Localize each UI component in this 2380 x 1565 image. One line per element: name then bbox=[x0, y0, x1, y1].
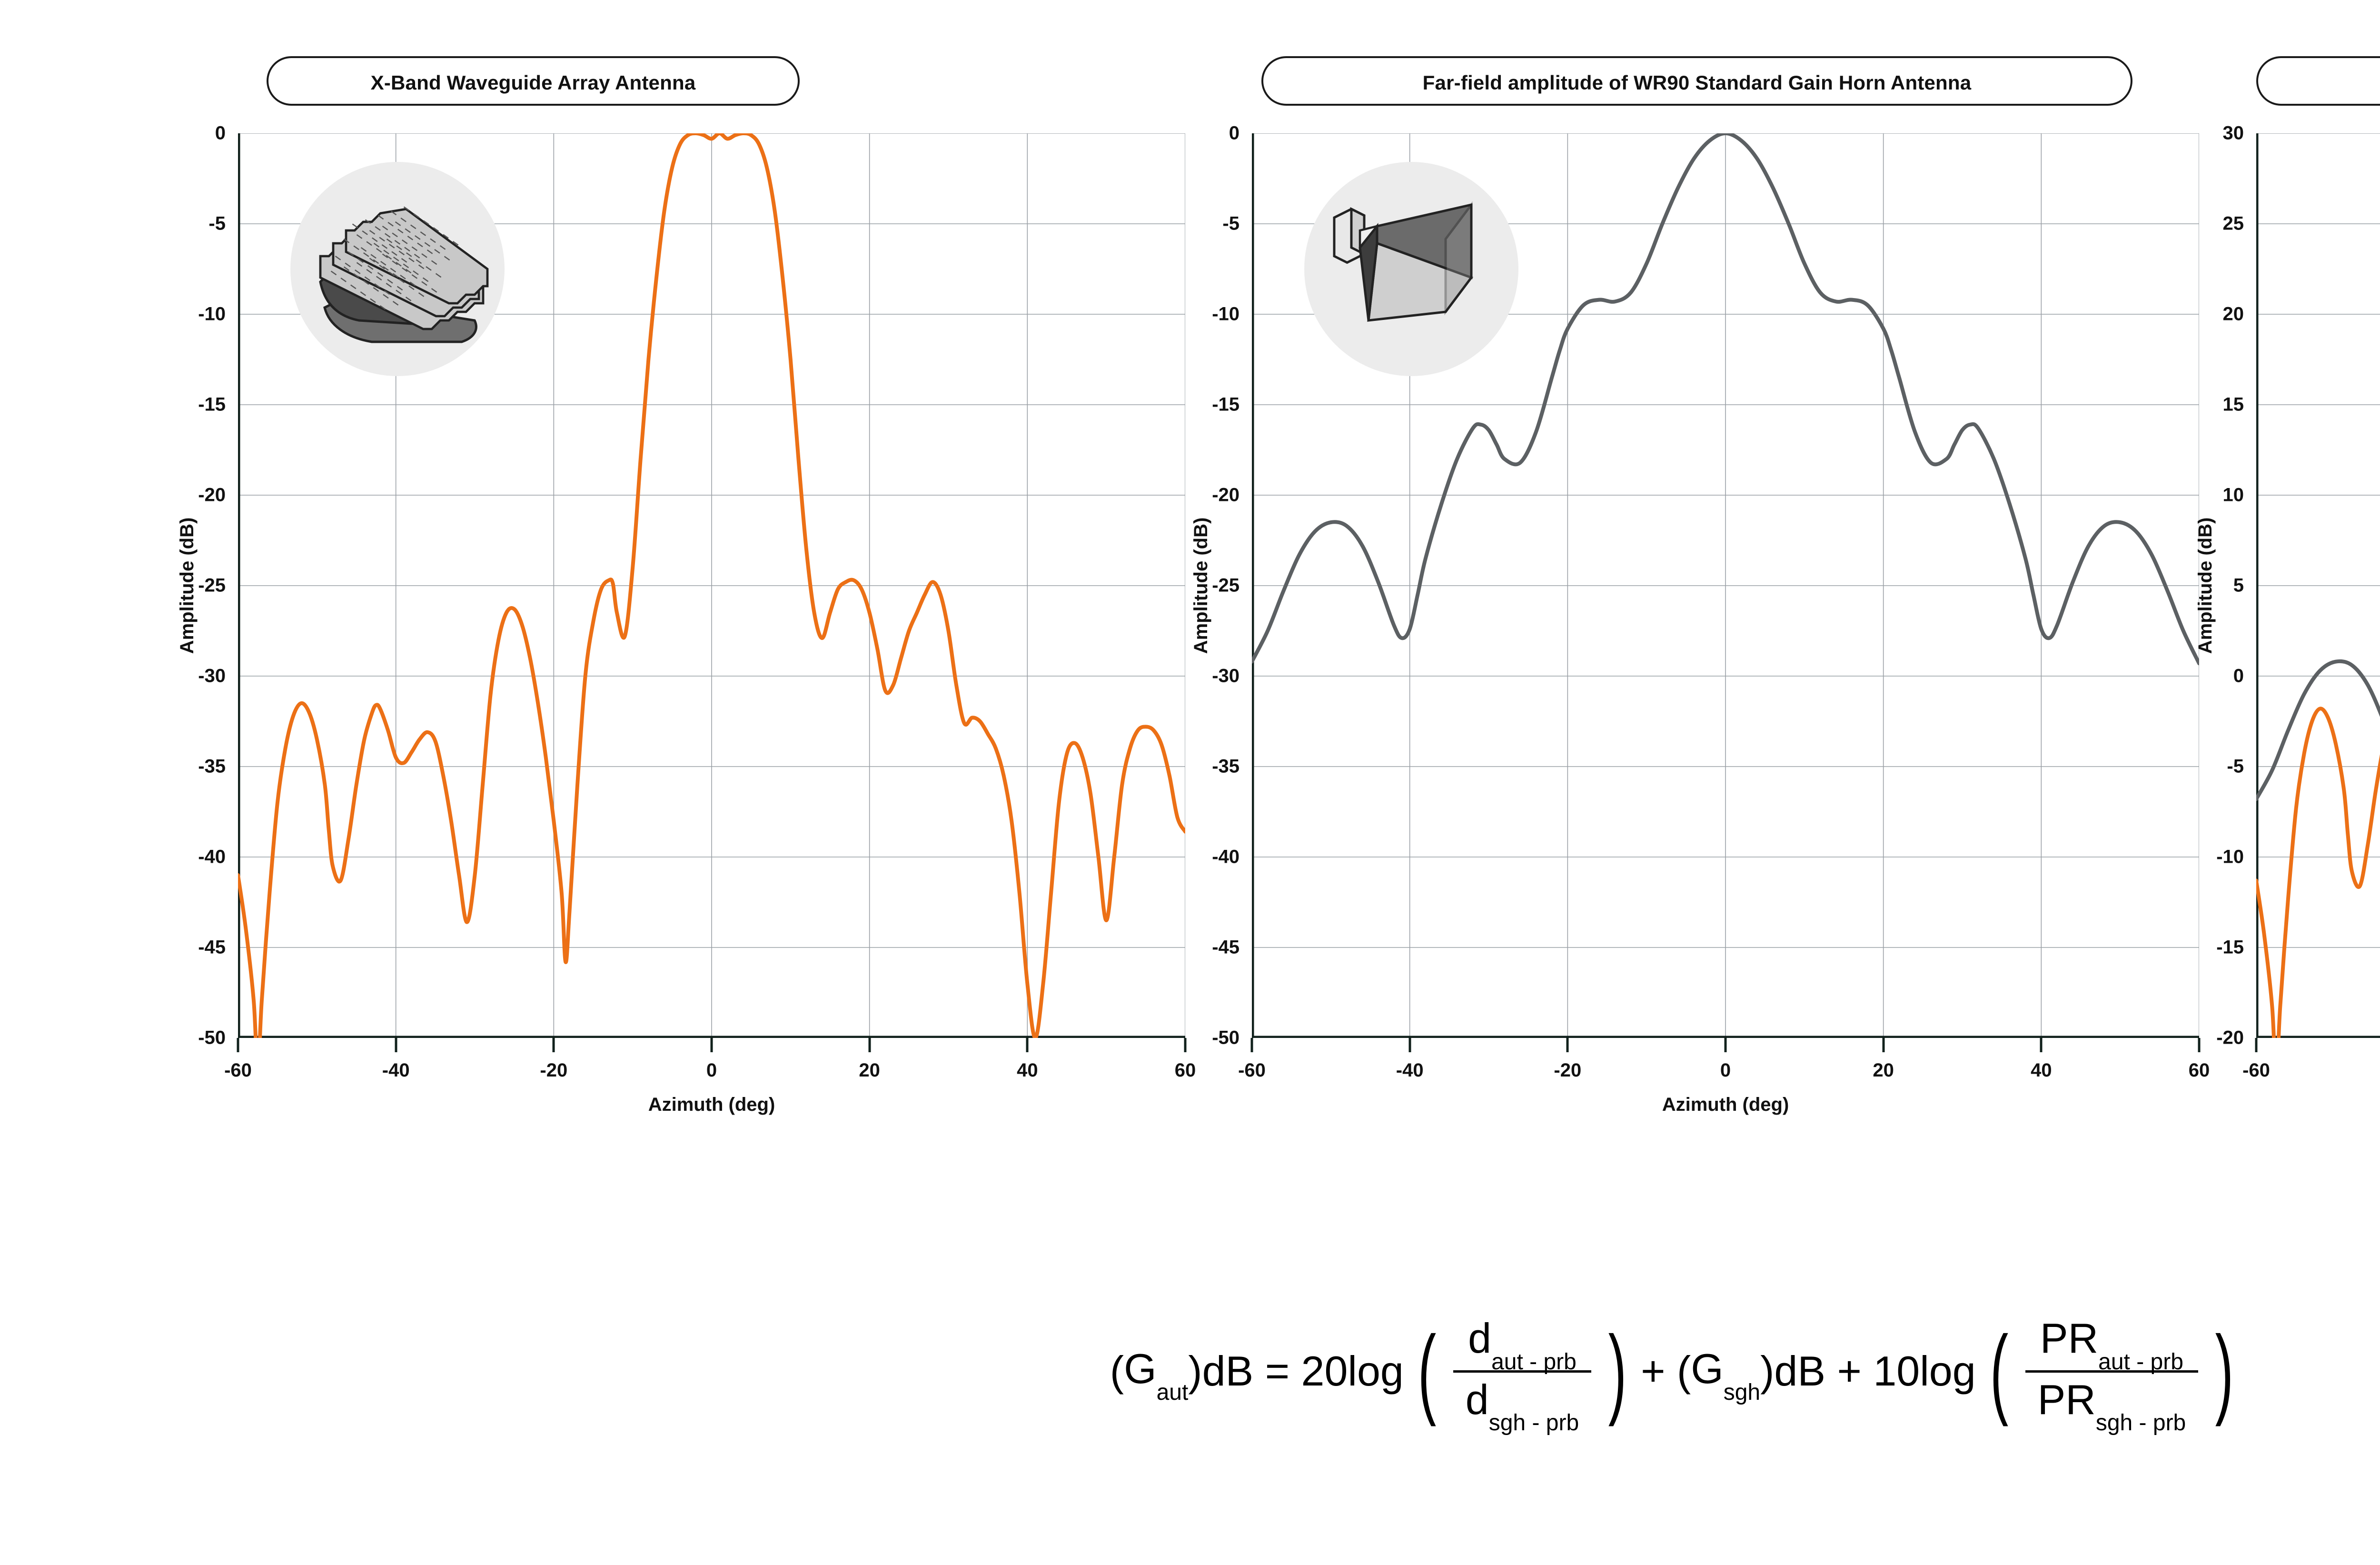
x-tick-label: -60 bbox=[1238, 1060, 1266, 1081]
formula-mid-db: )dB + 10log bbox=[1760, 1347, 1976, 1396]
y-tick-label: -35 bbox=[198, 756, 226, 778]
x-tick-label: -40 bbox=[382, 1060, 410, 1081]
y-tick-label: -40 bbox=[1212, 847, 1240, 868]
x-tick-mark bbox=[1882, 1038, 1884, 1052]
formula-fraction-power: PRaut - prb PRsgh - prb bbox=[2025, 1311, 2199, 1431]
y-tick-label: -50 bbox=[198, 1027, 226, 1049]
y-axis-label-aut: Amplitude (dB) bbox=[177, 518, 198, 654]
waveguide-slot-array-icon bbox=[290, 162, 505, 376]
plot-svg-ref bbox=[2256, 133, 2380, 1038]
x-tick-label: 40 bbox=[1017, 1060, 1038, 1081]
y-axis-label-ref: Amplitude (dB) bbox=[2195, 518, 2216, 654]
x-tick-label: -60 bbox=[224, 1060, 252, 1081]
y-tick-label: -40 bbox=[198, 847, 226, 868]
y-tick-label: 10 bbox=[2223, 485, 2244, 506]
x-tick-mark bbox=[395, 1038, 397, 1052]
y-tick-label: -45 bbox=[198, 937, 226, 958]
y-tick-label: -10 bbox=[198, 304, 226, 325]
y-tick-label: 0 bbox=[215, 123, 226, 144]
x-tick-mark bbox=[868, 1038, 871, 1052]
y-tick-label: -20 bbox=[1212, 485, 1240, 506]
y-tick-label: 20 bbox=[2223, 304, 2244, 325]
y-tick-label: -15 bbox=[1212, 394, 1240, 416]
formula-frac1-num: daut - prb bbox=[1456, 1311, 1589, 1370]
x-tick-mark bbox=[1251, 1038, 1253, 1052]
formula-lhs-db: )dB = 20log bbox=[1188, 1347, 1404, 1396]
x-tick-label: 20 bbox=[1873, 1060, 1894, 1081]
y-tick-label: 0 bbox=[2233, 666, 2244, 687]
y-tick-label: -35 bbox=[1212, 756, 1240, 778]
y-tick-label: -5 bbox=[2227, 756, 2244, 778]
y-tick-label: -15 bbox=[2216, 937, 2244, 958]
charts-row: X-Band Waveguide Array Antenna bbox=[0, 0, 2380, 1219]
y-tick-label: -25 bbox=[198, 575, 226, 597]
chart-title-ref: Far-field amplitude of X-band-WG-Array R… bbox=[2256, 56, 2380, 106]
plot-aut: Amplitude (dB) Azimuth (deg) 0-5-10-15-2… bbox=[238, 133, 1185, 1038]
x-tick-mark bbox=[1408, 1038, 1411, 1052]
x-tick-label: 0 bbox=[1720, 1060, 1731, 1081]
x-tick-mark bbox=[2255, 1038, 2258, 1052]
x-tick-mark bbox=[2040, 1038, 2043, 1052]
y-tick-label: -5 bbox=[1222, 213, 1240, 235]
chart-title-aut: X-Band Waveguide Array Antenna bbox=[267, 56, 800, 106]
formula-fraction-distance: daut - prb dsgh - prb bbox=[1453, 1311, 1591, 1431]
x-tick-label: -20 bbox=[1554, 1060, 1581, 1081]
y-tick-label: -10 bbox=[2216, 847, 2244, 868]
formula-paren-open-2: ( bbox=[1990, 1335, 2008, 1407]
y-tick-label: -20 bbox=[198, 485, 226, 506]
chart-panel-sgh: Far-field amplitude of WR90 Standard Gai… bbox=[1161, 0, 2161, 1219]
y-tick-label: -45 bbox=[1212, 937, 1240, 958]
formula-lhs-open: ( bbox=[1110, 1347, 1124, 1396]
y-tick-label: -25 bbox=[1212, 575, 1240, 597]
formula-paren-open-1: ( bbox=[1418, 1335, 1436, 1407]
y-tick-label: -10 bbox=[1212, 304, 1240, 325]
formula-frac2-den: PRsgh - prb bbox=[2025, 1373, 2199, 1432]
x-tick-label: -40 bbox=[1396, 1060, 1424, 1081]
x-tick-label: 0 bbox=[706, 1060, 717, 1081]
y-tick-label: 5 bbox=[2233, 575, 2244, 597]
y-tick-label: 25 bbox=[2223, 213, 2244, 235]
gain-comparison-formula: ( Gaut )dB = 20log ( daut - prb dsgh - p… bbox=[0, 1238, 2380, 1505]
formula-frac2-num: PRaut - prb bbox=[2028, 1311, 2196, 1370]
x-axis-label-sgh: Azimuth (deg) bbox=[1662, 1094, 1789, 1116]
x-tick-mark bbox=[711, 1038, 713, 1052]
formula-g-sgh: Gsgh bbox=[1691, 1345, 1760, 1398]
y-axis-label-sgh: Amplitude (dB) bbox=[1190, 518, 1212, 654]
y-tick-label: -15 bbox=[198, 394, 226, 416]
formula-g-aut: Gaut bbox=[1124, 1345, 1188, 1398]
x-tick-mark bbox=[1026, 1038, 1029, 1052]
formula-paren-close-2: ) bbox=[2215, 1335, 2233, 1407]
plot-area-ref: 1: 29.3 dB 2: 22.07 dB bbox=[2256, 133, 2380, 1038]
y-tick-label: 30 bbox=[2223, 123, 2244, 144]
x-tick-label: 40 bbox=[2031, 1060, 2052, 1081]
x-tick-mark bbox=[237, 1038, 239, 1052]
formula-frac1-den: dsgh - prb bbox=[1453, 1373, 1591, 1432]
y-tick-label: -5 bbox=[208, 213, 226, 235]
y-tick-label: -30 bbox=[1212, 666, 1240, 687]
plot-ref: 1: 29.3 dB 2: 22.07 dB Amplitude (dB) Az… bbox=[2256, 133, 2380, 1038]
y-tick-label: -30 bbox=[198, 666, 226, 687]
plot-sgh: Amplitude (dB) Azimuth (deg) 0-5-10-15-2… bbox=[1252, 133, 2199, 1038]
plot-area-sgh bbox=[1252, 133, 2199, 1038]
formula-paren-close-1: ) bbox=[1608, 1335, 1626, 1407]
x-tick-mark bbox=[1725, 1038, 1727, 1052]
y-tick-label: 15 bbox=[2223, 394, 2244, 416]
y-tick-label: 0 bbox=[1229, 123, 1240, 144]
y-tick-label: -50 bbox=[1212, 1027, 1240, 1049]
chart-panel-ref: Far-field amplitude of X-band-WG-Array R… bbox=[2161, 0, 2380, 1219]
chart-panel-aut: X-Band Waveguide Array Antenna bbox=[29, 0, 1161, 1219]
x-tick-label: -20 bbox=[540, 1060, 567, 1081]
plot-area-aut bbox=[238, 133, 1185, 1038]
x-tick-label: 20 bbox=[859, 1060, 880, 1081]
x-tick-mark bbox=[1567, 1038, 1569, 1052]
chart-title-sgh: Far-field amplitude of WR90 Standard Gai… bbox=[1261, 56, 2132, 106]
x-tick-label: -60 bbox=[2242, 1060, 2270, 1081]
formula-mid-plus: + ( bbox=[1641, 1347, 1691, 1396]
x-axis-label-aut: Azimuth (deg) bbox=[648, 1094, 775, 1116]
x-tick-mark bbox=[553, 1038, 555, 1052]
pyramidal-horn-antenna-icon bbox=[1304, 162, 1518, 376]
y-tick-label: -20 bbox=[2216, 1027, 2244, 1049]
